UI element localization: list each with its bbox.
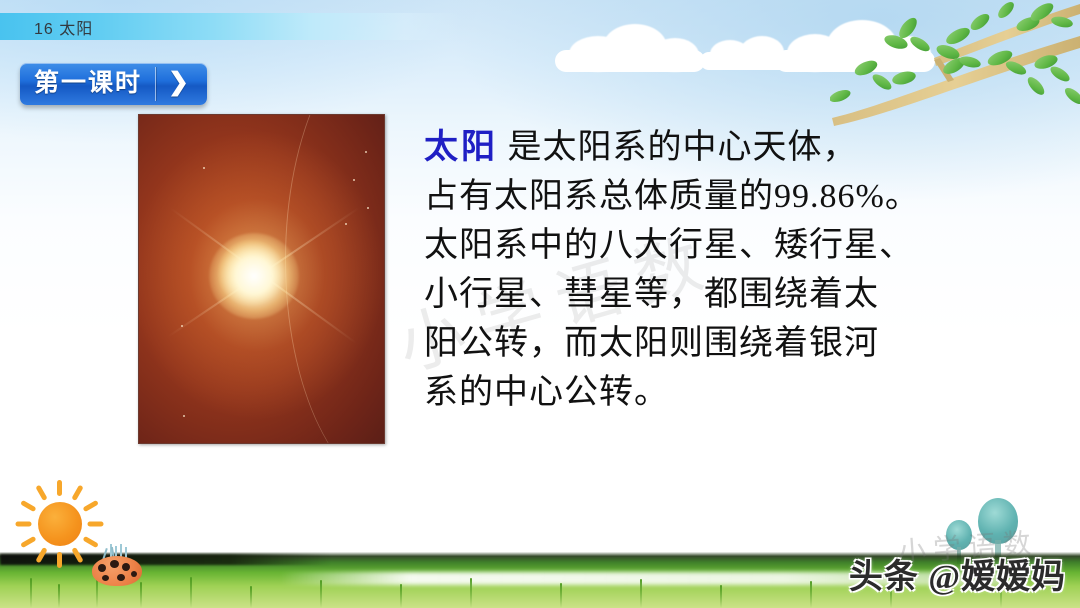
sun-photo [138,114,385,444]
watermark-brand: 头条 @嫒嫒妈 [849,549,1066,598]
star-speck [203,167,205,169]
star-speck [367,207,369,209]
sun-flare [209,233,299,319]
ladybug-icon [88,544,146,586]
cloud-middle [700,36,790,70]
grass-blade [720,585,722,608]
grass-blade [470,578,472,608]
star-speck [365,151,367,153]
paragraph-line-3: 太阳系中的八大行星、矮行星、 [424,221,1014,270]
star-speck [345,223,347,225]
grass-blade [250,586,252,608]
star-speck [183,415,185,417]
lesson-paragraph: 太阳 是太阳系的中心天体， 占有太阳系总体质量的99.86%。 太阳系中的八大行… [424,123,1014,417]
paragraph-line-4: 小行星、彗星等，都围绕着太 [424,270,1014,319]
lesson-period-label: 第一课时 [20,71,155,98]
tree-branch-icon [830,0,1080,130]
paragraph-line-5: 阳公转，而太阳则围绕着银河 [424,319,1014,368]
keyword-sun: 太阳 [424,129,498,166]
paragraph-line-1-rest: 是太阳系的中心天体， [508,129,858,166]
lesson-period-button[interactable]: 第一课时 ❯ [20,63,207,105]
slide-canvas: 16 太阳 第一课时 ❯ 小学语数 太阳 是太阳系的中心天体， 占有太阳系总体质… [0,0,1080,608]
star-speck [353,179,355,181]
chevron-right-icon[interactable]: ❯ [156,70,203,98]
grass-blade [58,584,60,608]
star-speck [181,325,183,327]
grass-blade [400,584,402,608]
paragraph-line-6: 系的中心公转。 [424,368,1014,417]
grass-blade [320,580,322,608]
grass-blade [640,579,642,608]
grass-blade [560,583,562,608]
paragraph-line-2: 占有太阳系总体质量的99.86%。 [424,172,1014,221]
grass-blade [30,578,32,608]
paragraph-line-1: 太阳 是太阳系的中心天体， [424,123,1014,172]
grass-blade [190,577,192,608]
cloud-right [775,20,935,72]
cloud-left [555,24,705,72]
page-title: 16 太阳 [34,15,93,39]
grass-blade [810,581,812,608]
